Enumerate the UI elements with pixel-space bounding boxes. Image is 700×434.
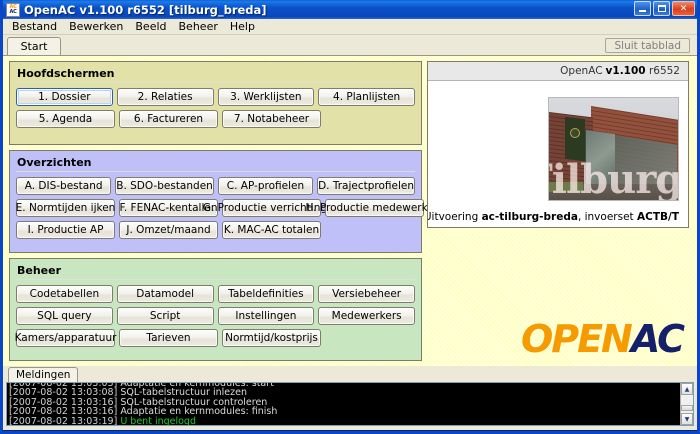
button-1-dossier[interactable]: 1. Dossier [16,88,113,106]
button-row: 1. Dossier2. Relaties3. Werklijsten4. Pl… [16,88,415,106]
button-i-productie-ap[interactable]: I. Productie AP [16,221,115,239]
panel-title-beheer: Beheer [17,264,415,277]
messages-tab-strip: Meldingen [3,366,697,382]
scrollbar-track[interactable] [681,395,693,405]
panel-hoofdschermen: Hoofdschermen1. Dossier2. Relaties3. Wer… [9,61,422,145]
title-bar[interactable]: AC AC OpenAC v1.100 r6552 [tilburg_breda… [3,0,697,19]
app-icon: AC AC [6,3,20,17]
info-panel: OpenAC v1.100 r6552 Tilburg [427,61,689,228]
menu-item-bewerken[interactable]: Bewerken [63,19,129,34]
panel-beheer: BeheerCodetabellenDatamodelTabeldefiniti… [9,258,422,361]
maximize-button[interactable] [653,1,670,16]
tab-meldingen[interactable]: Meldingen [8,367,78,382]
info-caption: Uitvoering ac-tilburg-breda, invoerset A… [427,211,679,223]
panel-divider [16,171,415,172]
button-j-omzet-maand[interactable]: J. Omzet/maand [119,221,218,239]
photo-banner-emblem-icon [570,128,580,138]
button-row: 5. Agenda6. Factureren7. Notabeheer [16,110,415,128]
button-h-productie-medewerkers[interactable]: H. Productie medewerkers [325,199,424,217]
button-tarieven[interactable]: Tarieven [119,329,218,347]
panel-divider [16,279,415,280]
log-line: [2007-08-02 13:03:19] U bent ingelogd [9,417,678,425]
window-controls: ✕ [634,1,695,16]
info-panel-body: Tilburg Uitvoering ac-tilburg-breda, inv… [428,81,688,228]
application-window: AC AC OpenAC v1.100 r6552 [tilburg_breda… [0,0,700,434]
info-revision: r6552 [649,65,680,77]
building-photo: Tilburg [548,97,679,201]
button-row: Kamers/apparatuurTarievenNormtijd/kostpr… [16,329,415,347]
menu-item-help[interactable]: Help [224,19,261,34]
button-row: E. Normtijden ijkenF. FENAC-kentallenG. … [16,199,415,217]
button-datamodel[interactable]: Datamodel [117,285,214,303]
panel-divider [16,82,415,83]
app-icon-bottom-text: AC [10,10,17,15]
wordmark-ac: AC [631,317,683,361]
window-title: OpenAC v1.100 r6552 [tilburg_breda] [24,3,267,17]
minimize-icon [639,10,646,12]
panel-title-hoofdschermen: Hoofdschermen [17,67,415,80]
minimize-button[interactable] [634,1,651,16]
tab-start[interactable]: Start [7,37,61,55]
caption-prefix: Uitvoering [427,211,482,223]
panel-title-overzichten: Overzichten [17,156,415,169]
log-timestamp: [2007-08-02 13:03:19] [9,416,120,425]
menu-bar: Bestand Bewerken Beeld Beheer Help [3,19,697,35]
button-row: CodetabellenDatamodelTabeldefinitiesVers… [16,285,415,303]
caption-middle: , invoerset [578,211,637,223]
button-k-mac-ac-totalen[interactable]: K. MAC-AC totalen [222,221,321,239]
button-2-relaties[interactable]: 2. Relaties [117,88,214,106]
openac-wordmark: OPENAC [521,320,683,358]
messages-dock: Meldingen [2007-08-02 13:03:03] Adaptati… [3,366,697,430]
info-version: v1.100 [606,65,646,77]
button-e-normtijden-ijken[interactable]: E. Normtijden ijken [16,199,115,217]
close-tab-button[interactable]: Sluit tabblad [605,38,690,53]
panel-overzichten: OverzichtenA. DIS-bestandB. SDO-bestande… [9,150,422,253]
tab-strip: Start Sluit tabblad [3,35,697,55]
menu-item-beeld[interactable]: Beeld [129,19,172,34]
log-message: U bent ingelogd [120,416,196,425]
button-script[interactable]: Script [117,307,214,325]
close-button[interactable]: ✕ [672,1,695,16]
button-6-factureren[interactable]: 6. Factureren [119,110,218,128]
log-line-list: [2007-08-02 13:03:03] Adaptatie en kernm… [7,383,680,425]
button-kamers-apparatuur[interactable]: Kamers/apparatuur [16,329,115,347]
photo-watermark: Tilburg [548,156,679,201]
work-area: Hoofdschermen1. Dossier2. Relaties3. Wer… [3,55,697,366]
menu-item-bestand[interactable]: Bestand [6,19,63,34]
scroll-down-arrow-icon[interactable]: ▼ [681,413,693,425]
button-normtijd-kostprijs[interactable]: Normtijd/kostprijs [222,329,321,347]
log-scrollbar[interactable]: ▲ ▼ [680,383,693,425]
scrollbar-thumb[interactable] [681,405,693,411]
scroll-up-arrow-icon[interactable]: ▲ [681,383,693,395]
info-product-name: OpenAC [560,65,602,77]
photo-banner [565,117,585,161]
button-5-agenda[interactable]: 5. Agenda [16,110,115,128]
button-row: A. DIS-bestandB. SDO-bestandenC. AP-prof… [16,177,415,195]
button-b-sdo-bestanden[interactable]: B. SDO-bestanden [115,177,214,195]
menu-item-beheer[interactable]: Beheer [173,19,224,34]
button-instellingen[interactable]: Instellingen [218,307,315,325]
button-tabeldefinities[interactable]: Tabeldefinities [218,285,315,303]
button-3-werklijsten[interactable]: 3. Werklijsten [218,88,315,106]
button-d-trajectprofielen[interactable]: D. Trajectprofielen [317,177,415,195]
button-4-planlijsten[interactable]: 4. Planlijsten [318,88,415,106]
info-panel-header: OpenAC v1.100 r6552 [428,62,688,81]
caption-dataset: ACTB/T [637,211,679,223]
button-row: SQL queryScriptInstellingenMedewerkers [16,307,415,325]
log-console[interactable]: [2007-08-02 13:03:03] Adaptatie en kernm… [6,382,694,426]
button-codetabellen[interactable]: Codetabellen [16,285,113,303]
button-c-ap-profielen[interactable]: C. AP-profielen [218,177,313,195]
button-row: I. Productie APJ. Omzet/maandK. MAC-AC t… [16,221,415,239]
button-a-dis-bestand[interactable]: A. DIS-bestand [16,177,111,195]
button-medewerkers[interactable]: Medewerkers [318,307,415,325]
caption-organisation: ac-tilburg-breda [482,211,578,223]
wordmark-open: OPEN [521,317,631,361]
button-7-notabeheer[interactable]: 7. Notabeheer [222,110,321,128]
maximize-icon [658,5,666,12]
button-versiebeheer[interactable]: Versiebeheer [318,285,415,303]
button-sql-query[interactable]: SQL query [16,307,113,325]
